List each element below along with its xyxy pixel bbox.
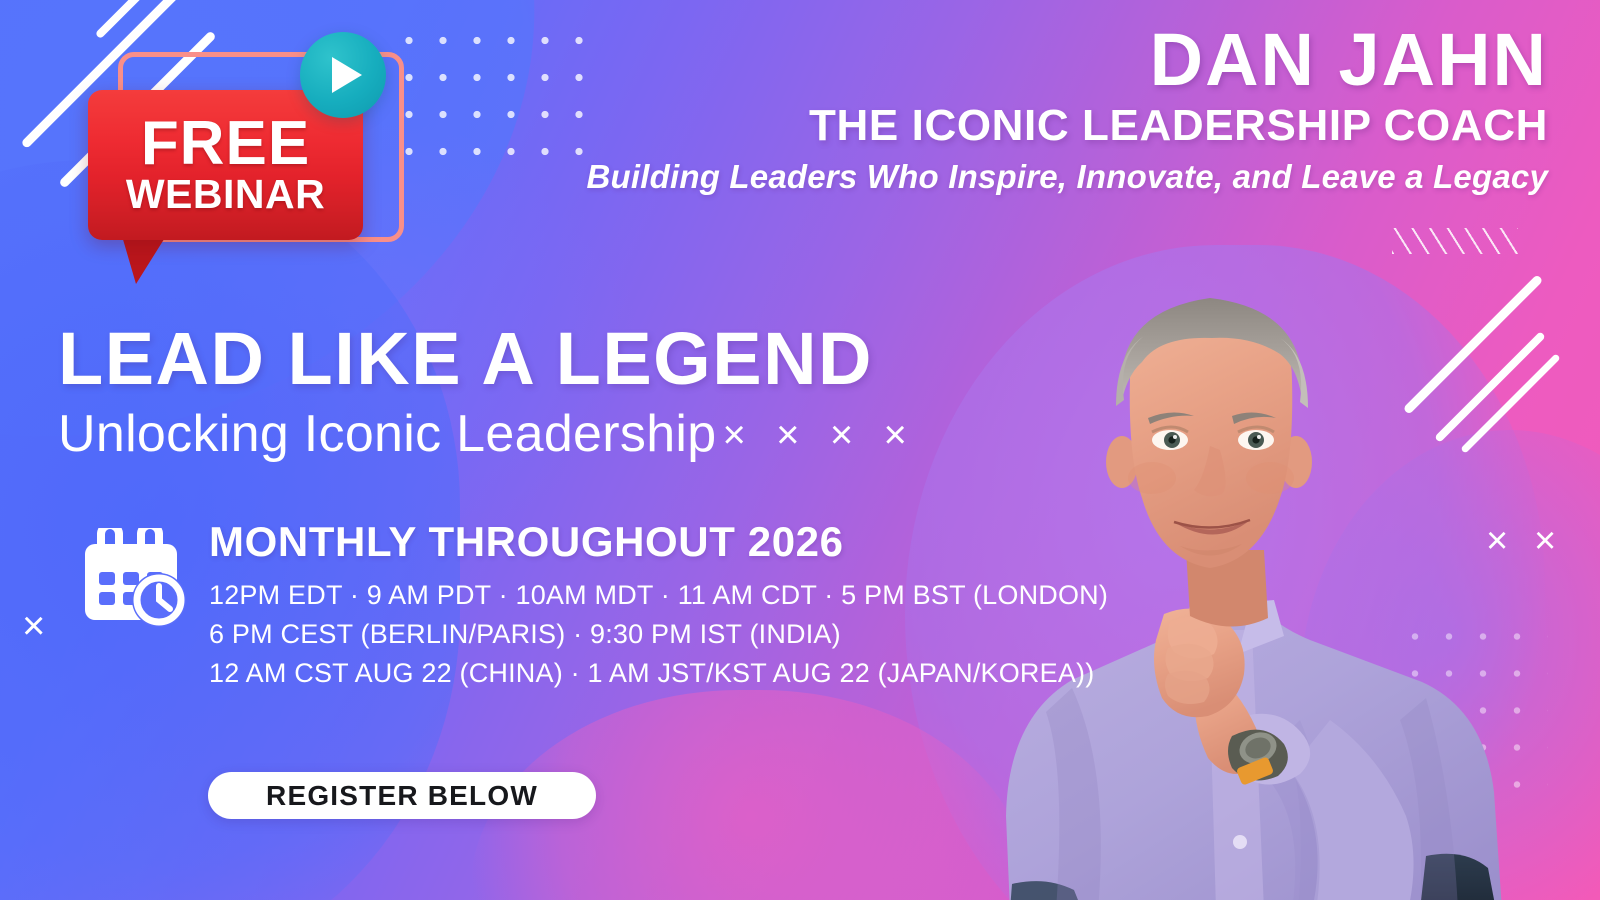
speaker-role: THE ICONIC LEADERSHIP COACH — [587, 101, 1549, 150]
schedule-line-1: 12PM EDT · 9 AM PDT · 10AM MDT · 11 AM C… — [209, 576, 1108, 615]
headline-subtitle: Unlocking Iconic Leadership — [58, 406, 716, 463]
play-triangle-icon — [332, 57, 362, 93]
schedule-line-2: 6 PM CEST (BERLIN/PARIS) · 9:30 PM IST (… — [209, 615, 1108, 654]
speaker-header: DAN JAHN THE ICONIC LEADERSHIP COACH Bui… — [587, 22, 1549, 196]
dot-grid-top — [392, 22, 602, 172]
subtitle-x-mark-2: × — [776, 413, 800, 457]
calendar-clock-icon — [75, 528, 187, 628]
badge-webinar-label: WEBINAR — [126, 174, 325, 215]
subtitle-x-mark-1: × — [722, 413, 746, 457]
headline-subtitle-row: Unlocking Iconic Leadership × × × × — [58, 406, 907, 463]
schedule-block: MONTHLY THROUGHOUT 2026 12PM EDT · 9 AM … — [75, 518, 1108, 693]
subtitle-x-mark-3: × — [830, 413, 854, 457]
schedule-texts: MONTHLY THROUGHOUT 2026 12PM EDT · 9 AM … — [209, 518, 1108, 693]
free-webinar-badge: FREE WEBINAR — [88, 52, 408, 287]
schedule-heading: MONTHLY THROUGHOUT 2026 — [209, 520, 1108, 564]
x-mark-left: × — [22, 606, 45, 646]
schedule-line-3: 12 AM CST AUG 22 (CHINA) · 1 AM JST/KST … — [209, 654, 1108, 693]
webinar-promo-banner: × × × — [0, 0, 1600, 900]
play-icon[interactable] — [300, 32, 386, 118]
subtitle-x-mark-4: × — [884, 413, 908, 457]
headline-group: LEAD LIKE A LEGEND Unlocking Iconic Lead… — [58, 322, 907, 463]
page-title: LEAD LIKE A LEGEND — [58, 322, 907, 396]
badge-free-label: FREE — [141, 115, 310, 172]
badge-speech-tail — [122, 236, 166, 284]
portrait-head — [1106, 298, 1312, 627]
register-below-button[interactable]: REGISTER BELOW — [208, 772, 596, 819]
speaker-tagline: Building Leaders Who Inspire, Innovate, … — [587, 157, 1549, 197]
speaker-name: DAN JAHN — [587, 22, 1549, 97]
